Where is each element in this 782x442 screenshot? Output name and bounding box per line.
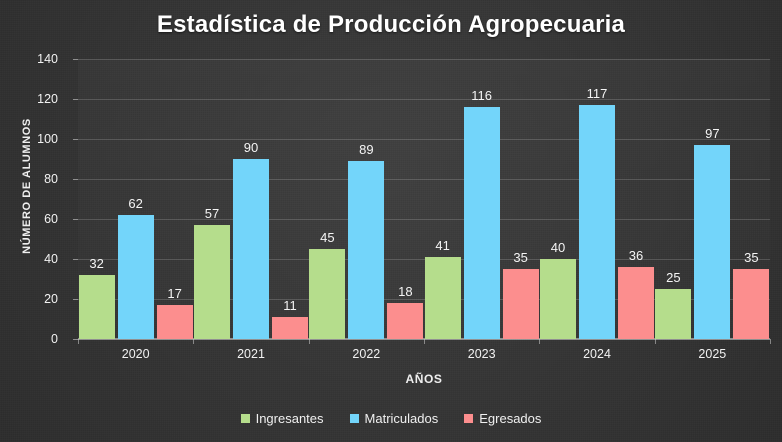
- bar-value-label: 90: [244, 140, 258, 155]
- x-tick-mark: [770, 339, 771, 344]
- chart-title: Estadística de Producción Agropecuaria: [0, 11, 782, 39]
- bar-value-label: 40: [551, 240, 565, 255]
- y-tick-label: 60: [8, 212, 58, 226]
- x-tick-mark: [424, 339, 425, 344]
- legend-swatch-icon: [241, 414, 250, 423]
- bar[interactable]: [118, 215, 154, 339]
- bar-value-label: 18: [398, 284, 412, 299]
- bar[interactable]: [157, 305, 193, 339]
- y-tick-mark: [73, 139, 78, 140]
- x-axis-title: AÑOS: [78, 372, 770, 386]
- bar-value-label: 25: [666, 270, 680, 285]
- chart-legend: IngresantesMatriculadosEgresados: [0, 411, 782, 426]
- bar-value-label: 36: [629, 248, 643, 263]
- bar-value-label: 35: [744, 250, 758, 265]
- bar-value-label: 41: [435, 238, 449, 253]
- x-tick-label: 2020: [122, 347, 150, 361]
- bar[interactable]: [694, 145, 730, 339]
- y-tick-mark: [73, 299, 78, 300]
- x-tick-label: 2021: [237, 347, 265, 361]
- bar[interactable]: [79, 275, 115, 339]
- bar[interactable]: [425, 257, 461, 339]
- bar-value-label: 57: [205, 206, 219, 221]
- bar[interactable]: [464, 107, 500, 339]
- bar[interactable]: [348, 161, 384, 339]
- bar[interactable]: [233, 159, 269, 339]
- y-tick-label: 100: [8, 132, 58, 146]
- bar[interactable]: [618, 267, 654, 339]
- bar-value-label: 17: [167, 286, 181, 301]
- x-tick-label: 2024: [583, 347, 611, 361]
- x-tick-mark: [539, 339, 540, 344]
- y-tick-mark: [73, 219, 78, 220]
- x-tick-mark: [193, 339, 194, 344]
- plot-area: 020406080100120140 326217579011458918411…: [78, 59, 770, 339]
- y-tick-label: 0: [8, 332, 58, 346]
- bar[interactable]: [540, 259, 576, 339]
- bar[interactable]: [503, 269, 539, 339]
- y-tick-label: 20: [8, 292, 58, 306]
- legend-label: Egresados: [479, 411, 541, 426]
- y-tick-mark: [73, 99, 78, 100]
- bar[interactable]: [733, 269, 769, 339]
- gridline: [78, 139, 770, 140]
- gridline: [78, 179, 770, 180]
- bar[interactable]: [272, 317, 308, 339]
- bar[interactable]: [655, 289, 691, 339]
- bar-value-label: 32: [89, 256, 103, 271]
- x-tick-mark: [655, 339, 656, 344]
- y-tick-label: 120: [8, 92, 58, 106]
- legend-item[interactable]: Matriculados: [350, 411, 439, 426]
- y-tick-mark: [73, 179, 78, 180]
- bar[interactable]: [387, 303, 423, 339]
- gridline: [78, 219, 770, 220]
- bar-value-label: 45: [320, 230, 334, 245]
- gridline: [78, 99, 770, 100]
- bar[interactable]: [309, 249, 345, 339]
- x-tick-label: 2025: [698, 347, 726, 361]
- gridline: [78, 59, 770, 60]
- bar-value-label: 117: [587, 86, 608, 101]
- x-tick-label: 2023: [468, 347, 496, 361]
- bar[interactable]: [579, 105, 615, 339]
- bar-chart: Estadística de Producción Agropecuaria N…: [0, 0, 782, 442]
- bar-value-label: 11: [283, 298, 297, 313]
- legend-item[interactable]: Ingresantes: [241, 411, 324, 426]
- y-tick-label: 40: [8, 252, 58, 266]
- x-tick-mark: [309, 339, 310, 344]
- bar-value-label: 35: [513, 250, 527, 265]
- legend-swatch-icon: [350, 414, 359, 423]
- bar-value-label: 97: [705, 126, 719, 141]
- bar[interactable]: [194, 225, 230, 339]
- y-tick-mark: [73, 259, 78, 260]
- legend-item[interactable]: Egresados: [464, 411, 541, 426]
- x-tick-label: 2022: [352, 347, 380, 361]
- y-tick-label: 140: [8, 52, 58, 66]
- bar-value-label: 62: [128, 196, 142, 211]
- y-tick-mark: [73, 59, 78, 60]
- y-tick-label: 80: [8, 172, 58, 186]
- legend-swatch-icon: [464, 414, 473, 423]
- legend-label: Matriculados: [365, 411, 439, 426]
- bar-value-label: 89: [359, 142, 373, 157]
- legend-label: Ingresantes: [256, 411, 324, 426]
- x-tick-mark: [78, 339, 79, 344]
- bar-value-label: 116: [471, 88, 492, 103]
